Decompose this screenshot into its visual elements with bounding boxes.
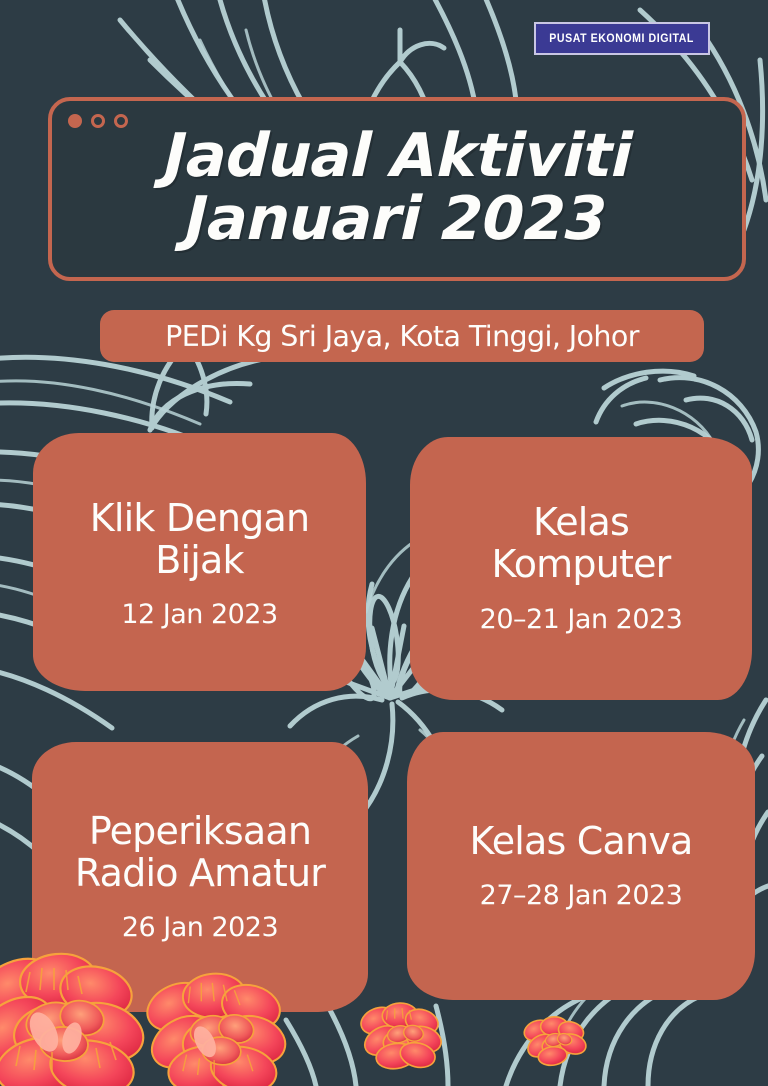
- activity-card-date: 12 Jan 2023: [121, 599, 277, 630]
- location-subtitle-pill: PEDi Kg Sri Jaya, Kota Tinggi, Johor: [100, 310, 704, 362]
- badge-label: PUSAT EKONOMI DIGITAL: [550, 33, 695, 45]
- window-dot-minimize-icon: [91, 114, 105, 128]
- activity-card-title-line-2: Radio Amatur: [75, 851, 325, 895]
- activity-card-kelas-canva: Kelas Canva 27–28 Jan 2023: [407, 732, 755, 1000]
- page-title-line-1: Jadual Aktiviti: [52, 127, 744, 186]
- activity-card-title-line-2: Komputer: [492, 542, 671, 586]
- location-subtitle-label: PEDi Kg Sri Jaya, Kota Tinggi, Johor: [165, 320, 639, 353]
- activity-card-peperiksaan-radio-amatur: Peperiksaan Radio Amatur 26 Jan 2023: [32, 742, 368, 1012]
- activity-card-date: 27–28 Jan 2023: [480, 880, 683, 911]
- activity-card-title: Kelas Komputer: [482, 502, 681, 586]
- title-window-card: Jadual Aktiviti Januari 2023: [48, 97, 746, 281]
- activity-card-title-line-1: Klik Dengan: [90, 496, 310, 540]
- activity-card-klik-dengan-bijak: Klik Dengan Bijak 12 Jan 2023: [33, 433, 366, 691]
- activity-card-title: Klik Dengan Bijak: [80, 498, 320, 582]
- activity-card-title-line-1: Peperiksaan: [89, 809, 311, 853]
- page-title-line-2: Januari 2023: [50, 190, 742, 249]
- activity-card-title: Kelas Canva: [459, 821, 702, 863]
- activity-card-date: 20–21 Jan 2023: [480, 604, 683, 635]
- page-title: Jadual Aktiviti Januari 2023: [50, 127, 744, 249]
- pusat-ekonomi-digital-badge: PUSAT EKONOMI DIGITAL: [534, 22, 710, 55]
- window-dot-maximize-icon: [114, 114, 128, 128]
- activity-card-date: 26 Jan 2023: [122, 912, 278, 943]
- activity-card-title-line-1: Kelas Canva: [469, 819, 692, 863]
- poster-canvas: PUSAT EKONOMI DIGITAL Jadual Aktiviti Ja…: [0, 0, 768, 1086]
- activity-card-title-line-2: Bijak: [155, 538, 243, 582]
- window-dot-close-icon: [68, 114, 82, 128]
- window-dots: [68, 114, 128, 128]
- activity-card-title: Peperiksaan Radio Amatur: [65, 811, 335, 895]
- activity-card-title-line-1: Kelas: [533, 500, 629, 544]
- activity-card-kelas-komputer: Kelas Komputer 20–21 Jan 2023: [410, 437, 752, 700]
